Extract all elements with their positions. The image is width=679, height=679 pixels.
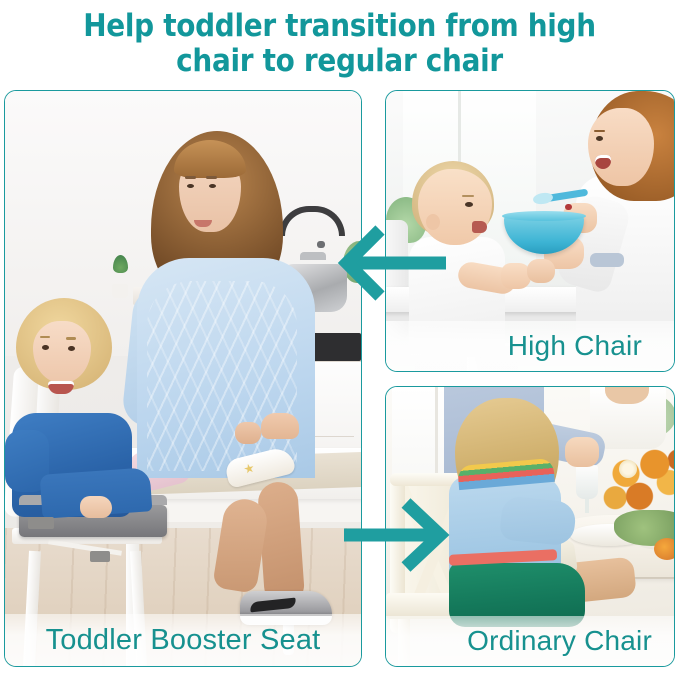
white-flower xyxy=(619,460,637,478)
woman-eyebrow xyxy=(185,176,196,179)
woman-eye xyxy=(209,184,216,188)
kettle-knob xyxy=(317,241,325,248)
toddler-eyebrow xyxy=(66,337,76,340)
mother-sleeve-cuff xyxy=(590,253,624,267)
mother-face xyxy=(588,108,654,186)
page-title: Help toddler transition from high chair … xyxy=(0,0,679,88)
booster-seat-strap xyxy=(90,551,110,562)
sneaker-stripe xyxy=(250,598,297,613)
label-toddler-booster-seat: Toddler Booster Seat xyxy=(46,624,321,657)
sweater-knit-texture xyxy=(147,281,297,471)
label-ordinary-chair: Ordinary Chair xyxy=(467,625,652,657)
mother-eyebrow xyxy=(594,130,605,133)
baby-eye xyxy=(465,202,473,207)
panel-toddler-booster-seat[interactable]: Toddler Booster Seat xyxy=(4,90,362,667)
panel-grid: Toddler Booster Seat xyxy=(0,88,679,679)
arrow-right-icon xyxy=(344,492,454,578)
plant-pot xyxy=(112,284,128,298)
toddler-hand xyxy=(80,496,112,518)
drinking-glass xyxy=(576,465,598,499)
booster-scene-photo xyxy=(5,91,361,666)
arrow-left-icon xyxy=(330,218,446,308)
booster-label-band: Toddler Booster Seat xyxy=(5,614,361,666)
woman-eyebrow xyxy=(206,176,217,179)
autumn-flower-bouquet xyxy=(599,443,674,519)
page-title-line-1: Help toddler transition from high xyxy=(83,9,596,44)
adult-hand xyxy=(565,437,599,467)
booster-seat-strap xyxy=(28,517,54,529)
mini-pumpkin xyxy=(654,538,674,560)
woman-hand xyxy=(235,422,261,444)
high-chair-label-band: High Chair xyxy=(386,321,674,371)
mother-eye xyxy=(596,136,603,141)
baby-eyebrow xyxy=(462,195,474,198)
baby-hand xyxy=(527,259,555,283)
page-title-line-2: chair to regular chair xyxy=(176,44,503,79)
label-high-chair: High Chair xyxy=(508,330,642,362)
wine-glass-stem xyxy=(585,499,589,513)
fingernail xyxy=(565,204,572,210)
woman-hand xyxy=(261,413,299,439)
kettle-lid xyxy=(300,252,326,260)
star-icon xyxy=(243,463,255,475)
ordinary-chair-label-band: Ordinary Chair xyxy=(386,616,674,666)
